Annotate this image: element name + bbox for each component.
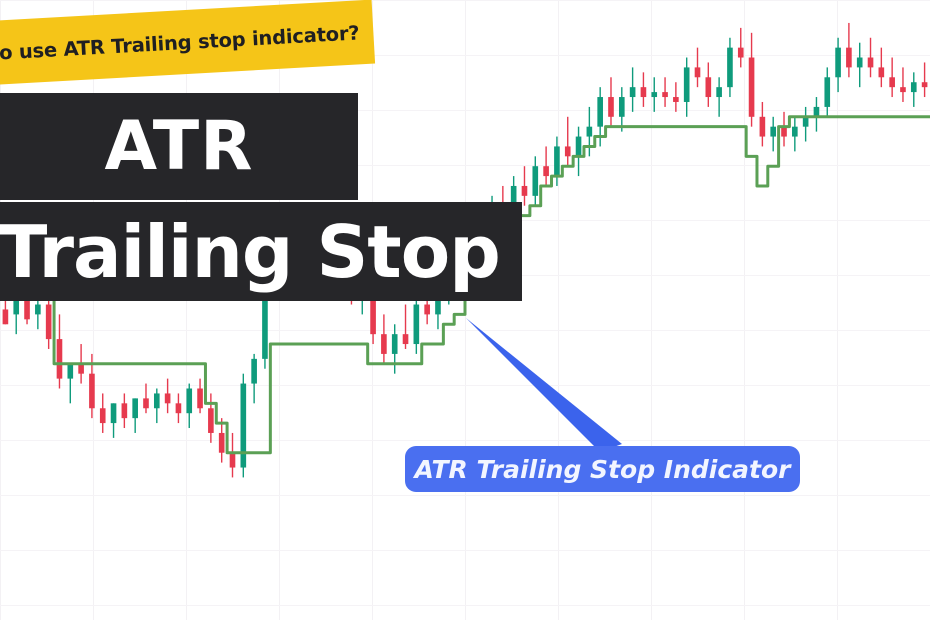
infographic-canvas: w to use ATR Trailing stop indicator? AT…: [0, 0, 930, 620]
callout-pointer-icon: [0, 0, 930, 620]
callout-text: ATR Trailing Stop Indicator: [414, 455, 790, 484]
indicator-callout-label: ATR Trailing Stop Indicator: [405, 446, 800, 492]
